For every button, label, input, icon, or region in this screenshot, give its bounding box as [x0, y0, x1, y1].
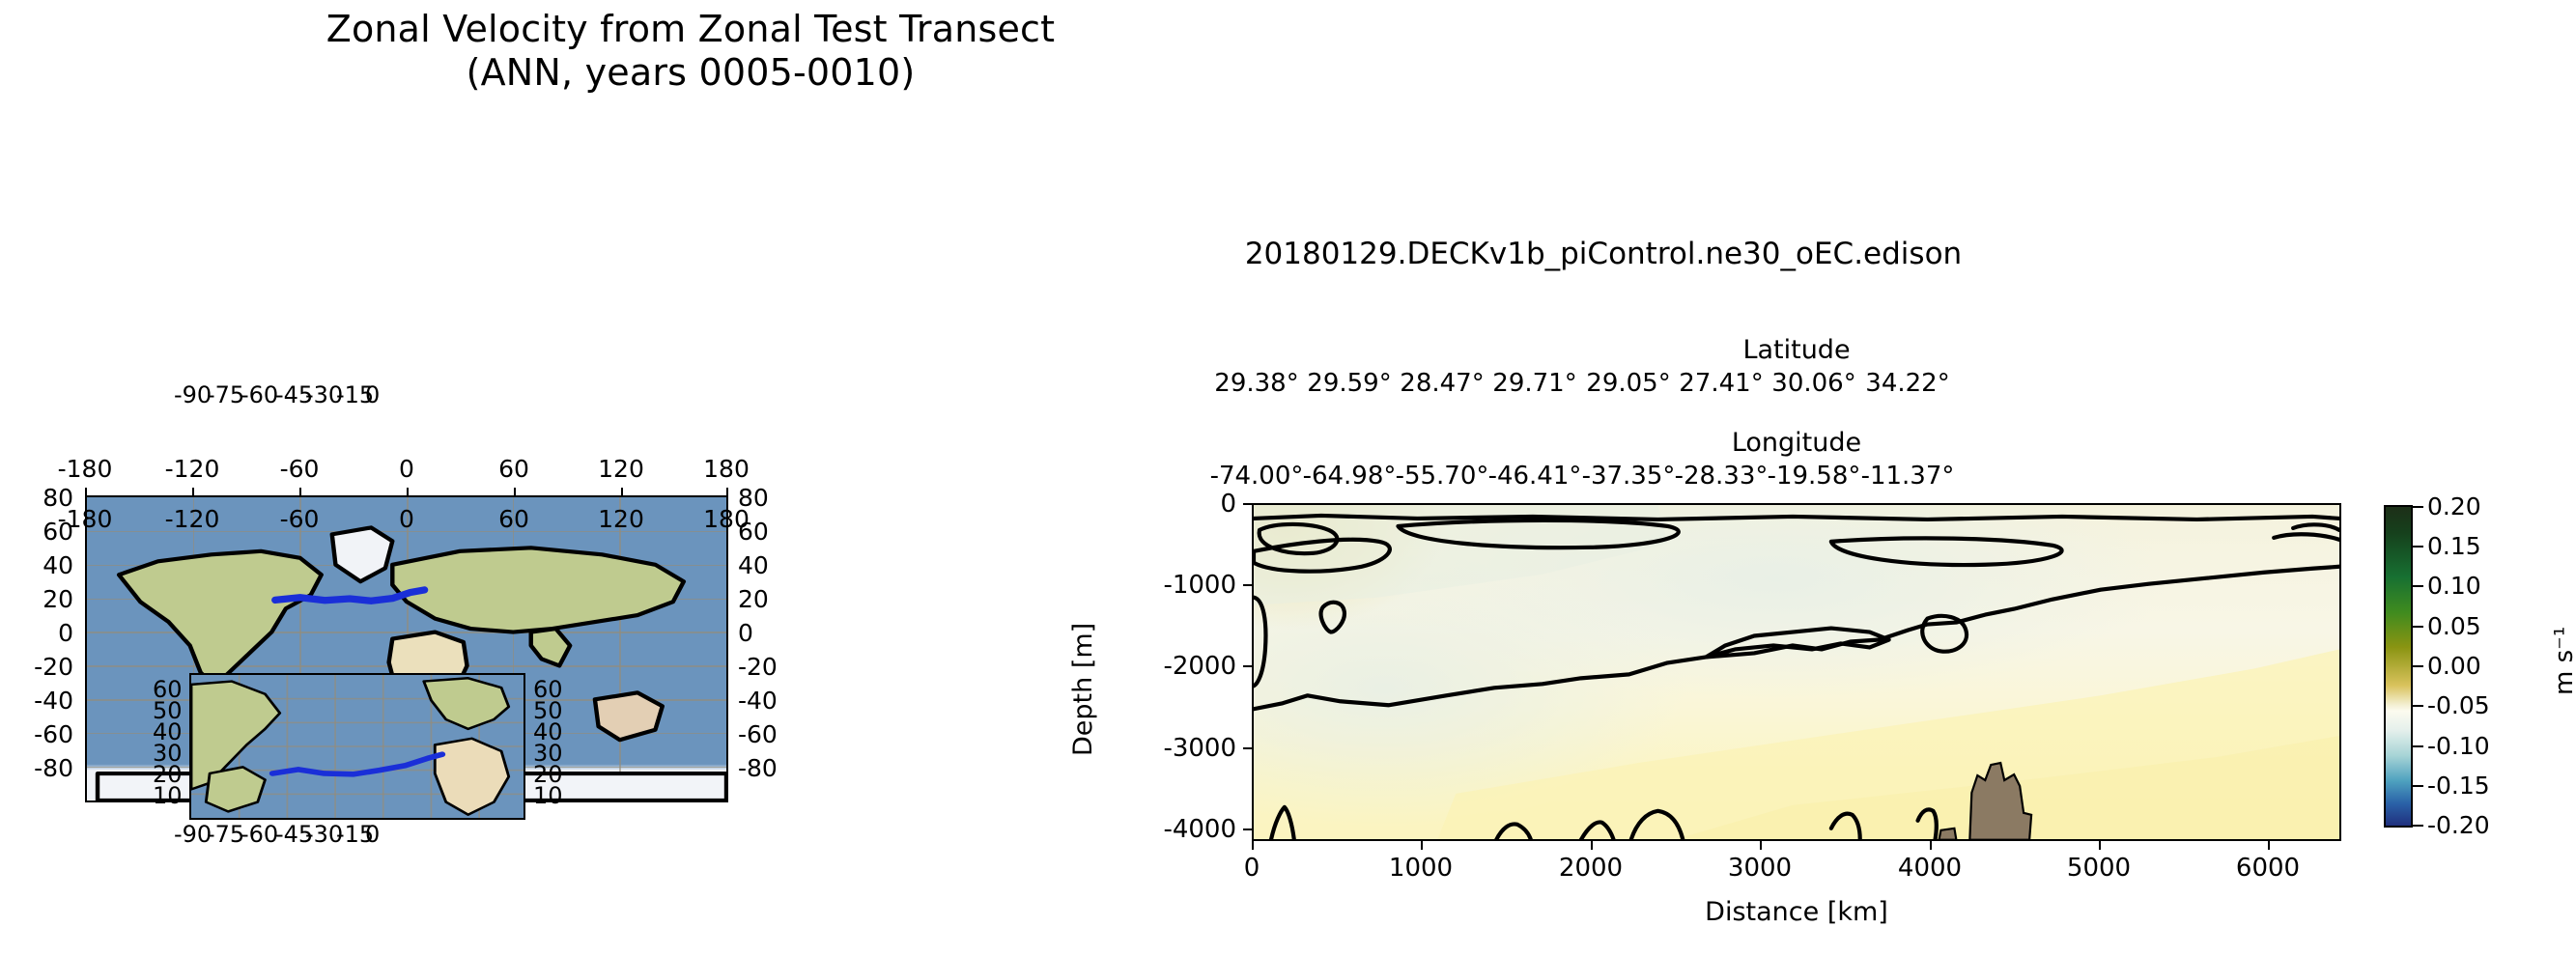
colorbar-tick-label: 0.20: [2427, 492, 2481, 520]
distance-axis-title: Distance [km]: [1252, 897, 2341, 927]
axis-tick: [1760, 841, 1762, 850]
axis-tick: [726, 488, 728, 495]
transect-contour-plot: 0 1000 2000 3000 4000 5000 6000 Distance…: [1252, 503, 2341, 841]
axis-tick: [621, 488, 623, 495]
map-xtick-label-bottom: 60: [467, 505, 560, 533]
colorbar-tick: [2413, 705, 2423, 707]
colorbar-tick: [2413, 665, 2423, 667]
distance-tick-label: 4000: [1882, 854, 1978, 883]
map-xtick-label-bottom: -60: [253, 505, 346, 533]
transect-axes: [1252, 503, 2341, 841]
map-xtick-label-bottom: -120: [146, 505, 239, 533]
axis-tick: [1243, 665, 1252, 667]
axis-tick: [85, 488, 87, 495]
colorbar-tick-label: 0.00: [2427, 652, 2481, 680]
axis-tick: [299, 488, 301, 495]
map-xtick-label: -120: [146, 455, 239, 483]
colorbar-tick: [2413, 745, 2423, 747]
figure-canvas: Zonal Velocity from Zonal Test Transect …: [0, 0, 2576, 955]
page-title: Zonal Velocity from Zonal Test Transect …: [0, 8, 1381, 95]
distance-tick-label: 1000: [1373, 854, 1469, 883]
colorbar-tick: [2413, 785, 2423, 787]
map-ytick-label: -60: [2, 720, 73, 748]
latitude-axis-title: Latitude: [1252, 335, 2341, 365]
colorbar-tick-label: 0.10: [2427, 572, 2481, 600]
distance-tick-label: 3000: [1712, 854, 1808, 883]
map-xtick-label: 60: [467, 455, 560, 483]
axis-tick: [2099, 841, 2101, 850]
map-ytick-label-right: 20: [738, 585, 769, 613]
axis-tick: [1591, 841, 1593, 850]
inset-xtick-label-bottom: -60: [241, 821, 278, 848]
map-ytick-label: -80: [2, 754, 73, 782]
map-xtick-label: 180: [680, 455, 773, 483]
longitude-axis-title: Longitude: [1252, 428, 2341, 458]
colorbar-tick-label: 0.05: [2427, 612, 2481, 640]
inset-ytick-label: 10: [153, 782, 183, 809]
depth-tick-label: -4000: [1109, 815, 1236, 844]
distance-tick-label: 5000: [2051, 854, 2147, 883]
case-name-label: 20180129.DECKv1b_piControl.ne30_oEC.edis…: [1227, 237, 1980, 271]
axis-tick: [1243, 829, 1252, 830]
inset-coastlines: [191, 675, 524, 818]
axis-tick: [1930, 841, 1932, 850]
inset-ytick-label-right: 10: [533, 782, 563, 809]
axis-tick: [1421, 841, 1423, 850]
map-xtick-label-bottom: 120: [575, 505, 667, 533]
map-ytick-label-right: -40: [738, 687, 778, 715]
map-ytick-label: -40: [2, 687, 73, 715]
axis-tick: [1252, 841, 1254, 850]
axis-tick: [407, 488, 409, 495]
colorbar-tick: [2413, 506, 2423, 508]
distance-tick-label: 2000: [1543, 854, 1639, 883]
map-ytick-label-right: 40: [738, 551, 769, 579]
map-ytick-label: 0: [15, 619, 73, 647]
map-ytick-label: -20: [2, 653, 73, 681]
colorbar-tick: [2413, 546, 2423, 548]
inset-xtick-label-bottom: -75: [207, 821, 244, 848]
map-xtick-label: 0: [360, 455, 453, 483]
colorbar-tick: [2413, 825, 2423, 827]
axis-tick: [1243, 584, 1252, 586]
inset-xtick-label-bottom: 0: [365, 821, 380, 848]
map-xtick-label: -60: [253, 455, 346, 483]
longitude-tick-label: -11.37°: [1845, 462, 1970, 491]
map-ytick-label-right: -60: [738, 720, 778, 748]
colorbar-tick-label: -0.15: [2427, 772, 2490, 800]
map-inset-north-atlantic: [189, 673, 525, 820]
inset-xtick-label: -75: [207, 381, 244, 408]
map-ytick-label: 80: [15, 484, 73, 512]
colorbar-tick: [2413, 626, 2423, 628]
colorbar-tick-label: -0.20: [2427, 811, 2490, 839]
map-ytick-label: 60: [15, 518, 73, 546]
axis-tick: [1243, 747, 1252, 749]
distance-tick-label: 6000: [2220, 854, 2316, 883]
map-ytick-label-right: -80: [738, 754, 778, 782]
map-ytick-label-right: 0: [738, 619, 753, 647]
depth-tick-label: -2000: [1109, 652, 1236, 681]
map-ytick-label-right: -20: [738, 653, 778, 681]
depth-tick-label: -1000: [1109, 571, 1236, 600]
map-ytick-label-right: 60: [738, 518, 769, 546]
colorbar-tick: [2413, 585, 2423, 587]
axis-tick: [2268, 841, 2270, 850]
title-line-2: (ANN, years 0005-0010): [0, 51, 1381, 95]
colorbar-tick-label: -0.05: [2427, 691, 2490, 719]
inset-xtick-label: 0: [365, 381, 380, 408]
map-xtick-label: -180: [39, 455, 131, 483]
colorbar: [2384, 505, 2413, 828]
latitude-tick-label: 34.22°: [1845, 369, 1970, 398]
map-xtick-label-bottom: 0: [360, 505, 453, 533]
map-ytick-label: 40: [15, 551, 73, 579]
inset-xtick-label: -60: [241, 381, 278, 408]
colorbar-tick-label: 0.15: [2427, 532, 2481, 560]
title-line-1: Zonal Velocity from Zonal Test Transect: [326, 8, 1056, 50]
map-ytick-label: 20: [15, 585, 73, 613]
colorbar-unit-label: m s⁻¹: [2550, 627, 2576, 695]
depth-tick-label: 0: [1109, 490, 1236, 519]
axis-tick: [514, 488, 516, 495]
axis-tick: [1243, 503, 1252, 505]
contour-overlay: [1254, 505, 2339, 841]
map-ytick-label-right: 80: [738, 484, 769, 512]
depth-axis-title: Depth [m]: [1068, 623, 1098, 756]
distance-tick-label: 0: [1203, 854, 1300, 883]
colorbar-tick-label: -0.10: [2427, 732, 2490, 760]
axis-tick: [192, 488, 194, 495]
depth-tick-label: -3000: [1109, 734, 1236, 763]
map-xtick-label: 120: [575, 455, 667, 483]
